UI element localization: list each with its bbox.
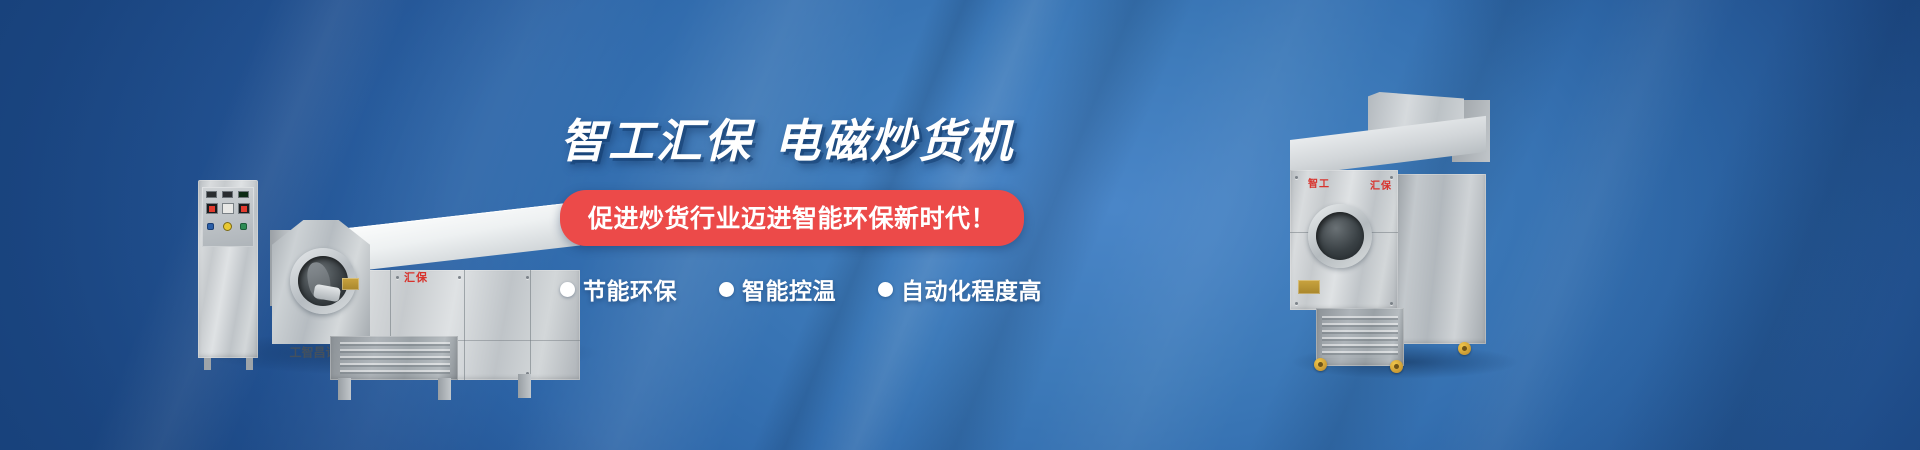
ventilation-louvers [340,342,450,374]
caster-wheel [1390,360,1403,373]
emergency-stop-button [1520,108,1532,120]
panel-indicator [238,191,249,198]
cabinet-foot [246,358,253,370]
ventilation-louvers [1322,316,1398,358]
panel-indicator [206,191,217,198]
panel-display [238,203,250,214]
feature-item-automation: 自动化程度高 [878,272,1042,306]
panel-button-forward [1520,126,1528,134]
title-brand: 智工汇保 [560,115,752,167]
machine-left-illustration: 智工 汇保 许昌智工 [180,90,580,370]
panel-button-reverse [1536,127,1544,135]
drum-interior [298,256,348,306]
control-panel [202,187,254,247]
feature-label: 智能控温 [742,272,836,306]
nameplate [342,278,359,290]
product-hero-banner: 智工 汇保 许昌智工 智工汇保电磁炒货机 促进炒货行业迈进智能环保新时代！ 节能… [0,0,1920,450]
brand-mark-left-b: 汇保 [404,272,428,283]
panel-switch [207,223,214,230]
nameplate [1298,280,1320,294]
temp-display [1502,114,1514,126]
panel-display [206,203,218,214]
title-product: 电磁炒货机 [774,115,1014,167]
feature-label: 自动化程度高 [901,272,1042,306]
caster-wheel [1314,358,1327,371]
panel-button-start [1538,110,1546,118]
bullet-dot-icon [878,282,893,297]
feature-item-energy: 节能环保 [560,272,677,306]
drum-interior [1316,212,1364,260]
tagline-badge: 促进炒货行业迈进智能环保新时代！ [560,190,1024,246]
bullet-dot-icon [560,282,575,297]
panel-display [222,203,234,214]
feature-list: 节能环保 智能控温 自动化程度高 [560,272,1030,306]
page-title: 智工汇保电磁炒货机 [560,118,1030,164]
caster-wheel [1458,342,1471,355]
cabinet-foot [204,358,211,370]
brand-mark-right-a: 智工 [1308,180,1330,190]
panel-seam [464,270,465,380]
feature-item-temperature: 智能控温 [719,272,836,306]
bullet-dot-icon [719,282,734,297]
panel-button-aux [1552,128,1560,136]
feature-label: 节能环保 [583,272,677,306]
panel-seam [530,270,531,380]
roaster-right-column [1396,174,1486,344]
machine-right-illustration: 智工 汇保 [1280,92,1510,372]
brand-mark-right-b: 汇保 [1370,182,1392,192]
panel-switch [240,223,247,230]
panel-button-stop [1554,112,1562,120]
emergency-stop-knob [223,222,232,231]
panel-indicator [222,191,233,198]
drum-opening-ring [1308,204,1372,268]
bg-streak [1552,0,1920,450]
banner-copy-block: 智工汇保电磁炒货机 促进炒货行业迈进智能环保新时代！ 节能环保 智能控温 自动化… [560,118,1030,306]
